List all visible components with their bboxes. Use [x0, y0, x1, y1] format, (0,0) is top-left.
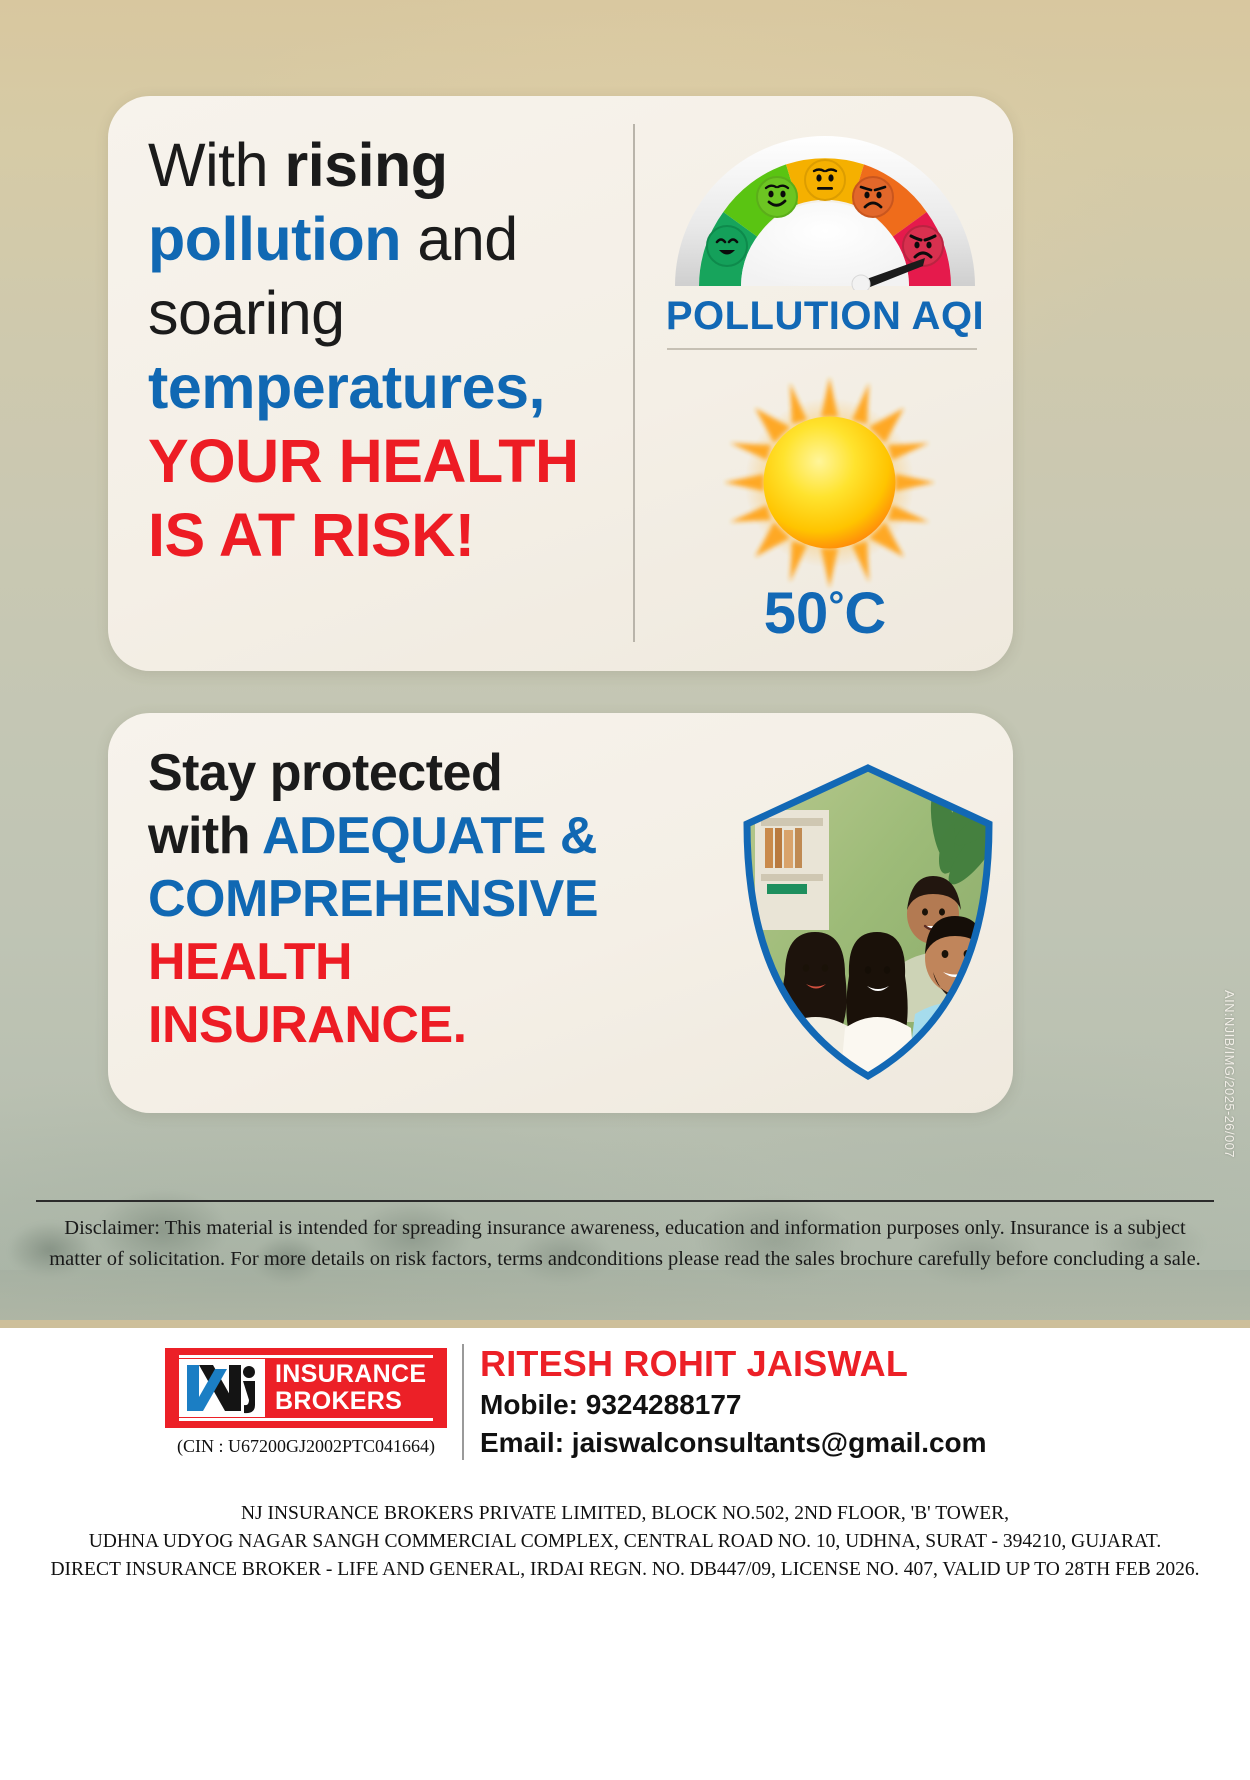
- temperature-unit: C: [844, 581, 886, 646]
- hero-headline: With rising pollution and soaring temper…: [148, 128, 618, 572]
- ain-code: AIN:NJIB/IMG/2025-26/007: [1222, 990, 1237, 1158]
- logo-rule-bottom: [179, 1418, 433, 1421]
- hero-card-divider: [633, 124, 635, 642]
- company-line-1: NJ INSURANCE BROKERS PRIVATE LIMITED, BL…: [20, 1500, 1230, 1528]
- hero-line1-a: With: [148, 131, 284, 199]
- aqi-gauge-icon: [665, 118, 985, 290]
- hero-line-4: temperatures,: [148, 350, 618, 424]
- aqi-divider: [667, 348, 977, 350]
- hero-line-3: soaring: [148, 276, 618, 350]
- sun-icon: [722, 375, 937, 590]
- hero-line-1: With rising: [148, 128, 618, 202]
- hero-line-5: YOUR HEALTH: [148, 424, 618, 498]
- agent-email[interactable]: Email: jaiswalconsultants@gmail.com: [480, 1424, 1180, 1462]
- disclaimer-text: Disclaimer: This material is intended fo…: [40, 1213, 1210, 1275]
- agent-name: RITESH ROHIT JAISWAL: [480, 1342, 1180, 1386]
- hero-line2-a: pollution: [148, 205, 401, 273]
- protection-headline: Stay protected with ADEQUATE & COMPREHEN…: [148, 742, 668, 1057]
- aqi-block: POLLUTION AQI: [660, 118, 990, 339]
- temperature-number: 50: [764, 581, 829, 646]
- shield-family-photo: [737, 762, 999, 1082]
- protect-line-2: with ADEQUATE &: [148, 805, 668, 868]
- agent-mobile[interactable]: Mobile: 9324288177: [480, 1386, 1180, 1424]
- nj-mark-icon: [179, 1359, 265, 1417]
- logo-line-2: BROKERS: [275, 1388, 426, 1415]
- logo-line-1: INSURANCE: [275, 1361, 426, 1388]
- protect-line-5: INSURANCE.: [148, 994, 668, 1057]
- nj-logo-words: INSURANCE BROKERS: [275, 1361, 426, 1415]
- hero-line2-b: and: [401, 205, 518, 273]
- protect-line-4: HEALTH: [148, 931, 668, 994]
- logo-rule-top: [179, 1355, 433, 1358]
- hero-line1-b: rising: [284, 131, 447, 199]
- footer-divider: [462, 1344, 464, 1460]
- company-line-2: UDHNA UDYOG NAGAR SANGH COMMERCIAL COMPL…: [20, 1528, 1230, 1556]
- protect-line-1: Stay protected: [148, 742, 668, 805]
- protect-line-3: COMPREHENSIVE: [148, 868, 668, 931]
- company-address: NJ INSURANCE BROKERS PRIVATE LIMITED, BL…: [20, 1500, 1230, 1584]
- hero-line-2: pollution and: [148, 202, 618, 276]
- agent-details: RITESH ROHIT JAISWAL Mobile: 9324288177 …: [480, 1342, 1180, 1462]
- degree-symbol: °: [828, 584, 844, 628]
- cin-number: (CIN : U67200GJ2002PTC041664): [165, 1436, 447, 1457]
- disclaimer-divider: [36, 1200, 1214, 1202]
- temperature-value: 50°C: [660, 580, 990, 647]
- footer-band: [0, 1320, 1250, 1328]
- company-line-3: DIRECT INSURANCE BROKER - LIFE AND GENER…: [20, 1556, 1230, 1584]
- nj-logo: INSURANCE BROKERS: [165, 1348, 447, 1428]
- aqi-label: POLLUTION AQI: [660, 294, 990, 339]
- aqi-gauge-svg: [665, 118, 985, 290]
- hero-line-6: IS AT RISK!: [148, 498, 618, 572]
